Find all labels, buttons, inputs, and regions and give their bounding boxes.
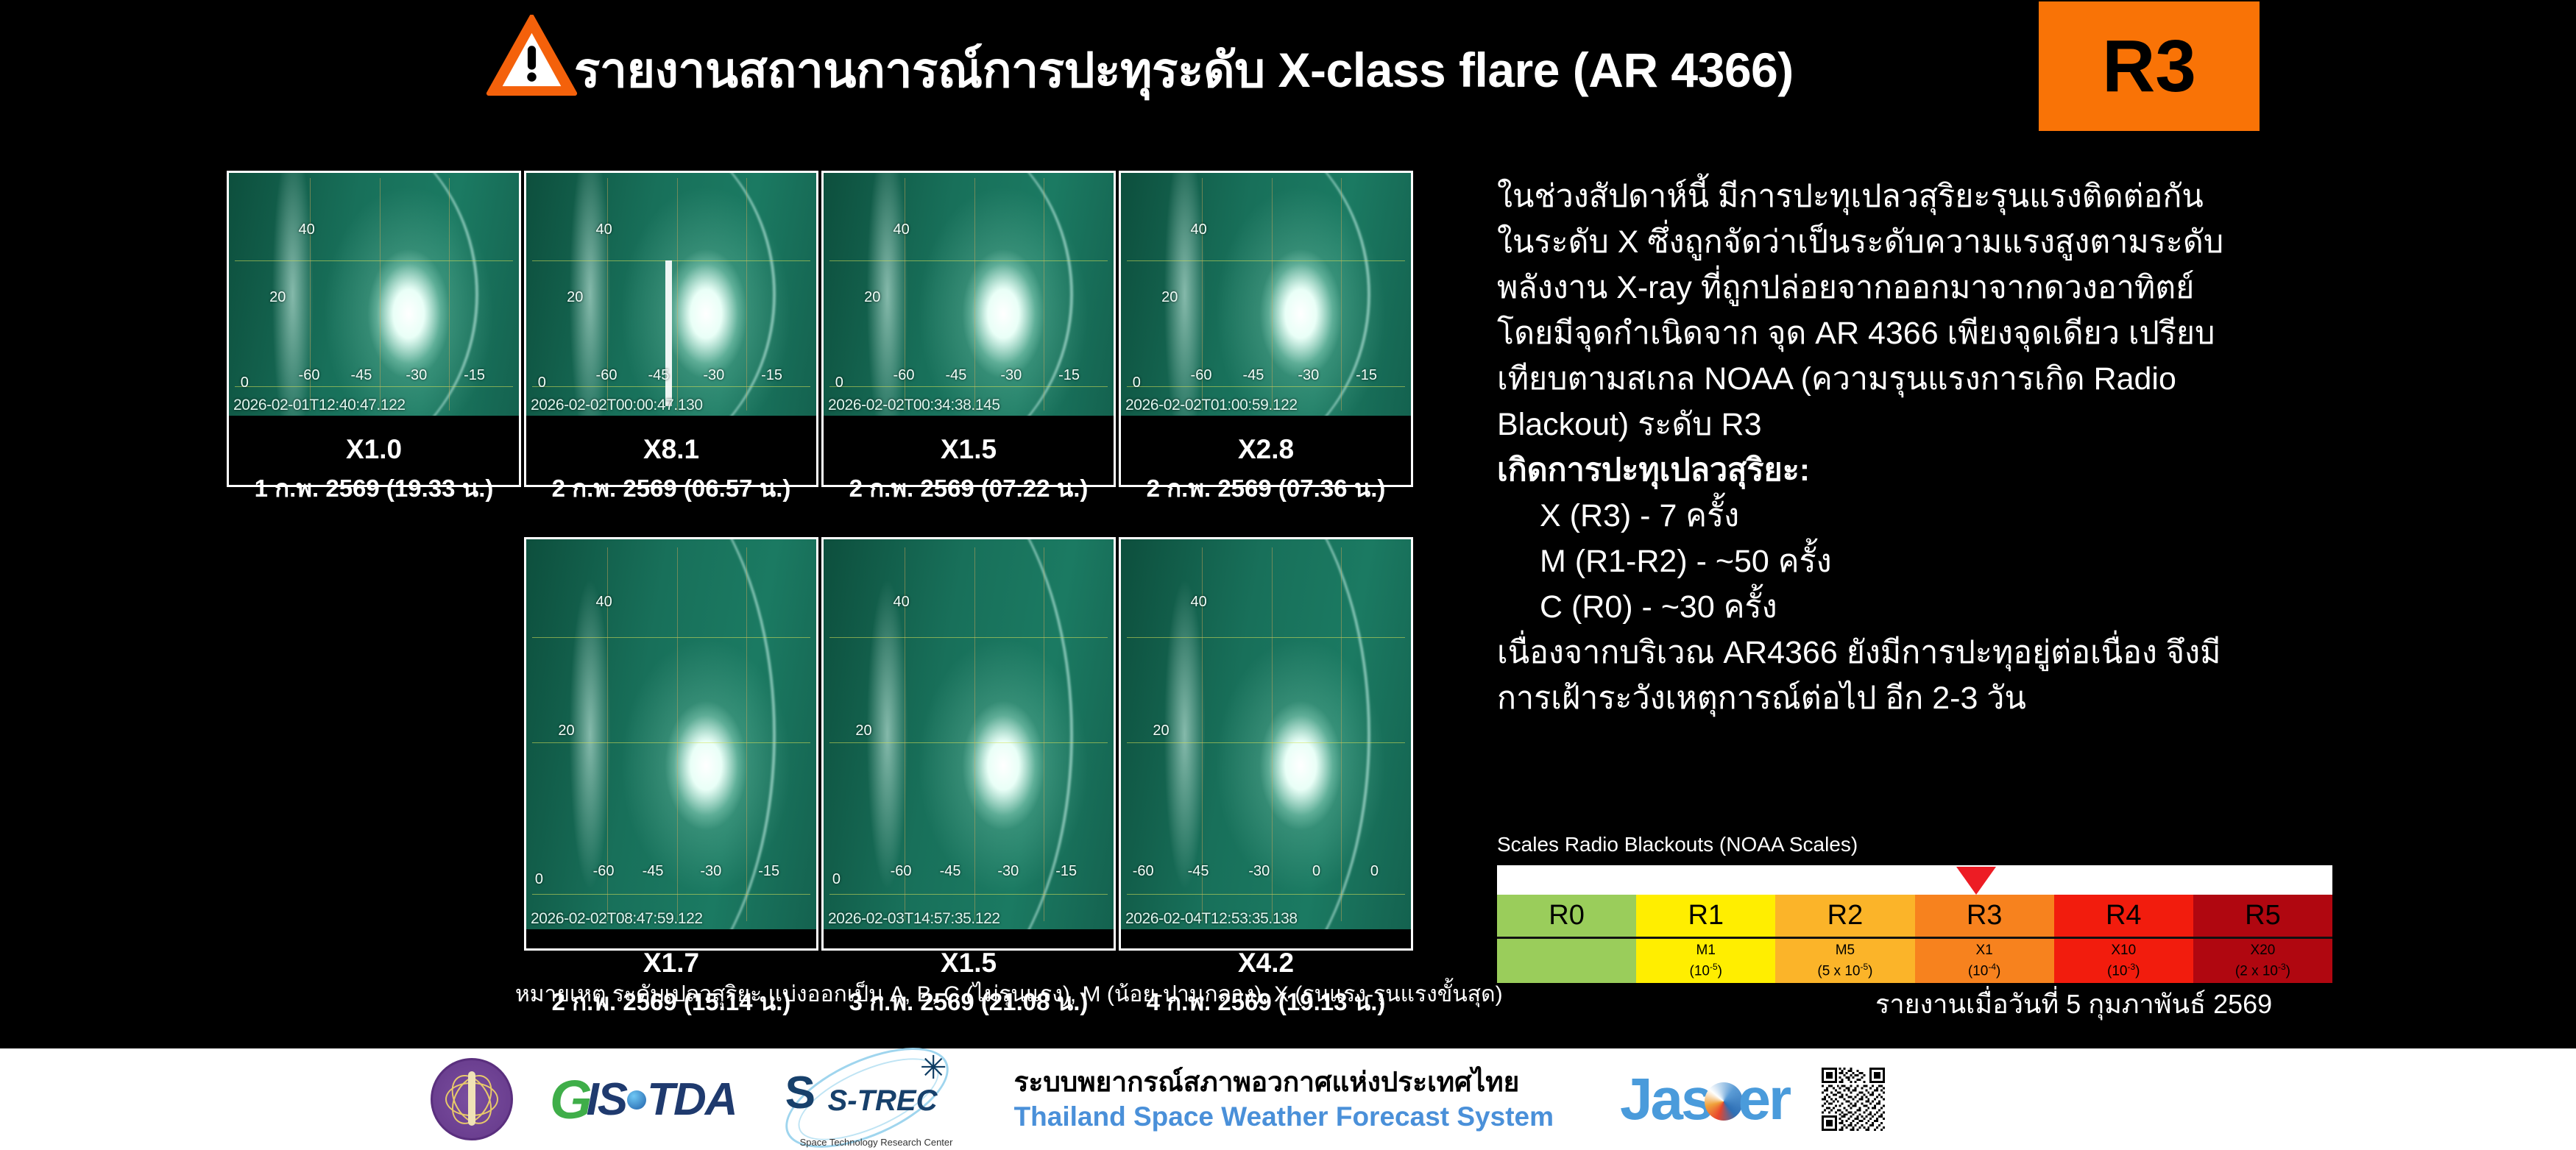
axis-label-y: 0 xyxy=(241,375,249,391)
flare-count-heading: เกิดการปะทุเปลวสุริยะ: xyxy=(1497,447,2366,493)
flare-panel-6[interactable]: 40 20 0 -60 -45 -30 -15 2026-02-03T14:57… xyxy=(821,537,1116,951)
solar-image-2: 40 20 0 -60 -45 -30 -15 2026-02-02T00:00… xyxy=(526,173,816,416)
solar-image-4: 40 20 0 -60 -45 -30 -15 2026-02-02T01:00… xyxy=(1121,173,1411,416)
flare-caption-4: X2.8 2 ก.พ. 2569 (07.36 น.) xyxy=(1121,419,1411,507)
page-title: รายงานสถานการณ์การปะทุระดับ X-class flar… xyxy=(574,29,2009,110)
axis-label-y: 40 xyxy=(1191,221,1207,238)
axis-label-y: 20 xyxy=(855,723,871,739)
axis-label-y: 40 xyxy=(894,221,910,238)
axis-label-x: -45 xyxy=(350,367,372,384)
axis-label-x: -45 xyxy=(945,367,966,384)
globe-icon xyxy=(627,1090,646,1110)
axis-label-x: -60 xyxy=(1133,863,1154,880)
flare-class: X1.5 xyxy=(824,429,1114,470)
scale-segment-r4[interactable]: R4 X10 (10-3) xyxy=(2054,895,2193,983)
poster-root: รายงานสถานการณ์การปะทุระดับ X-class flar… xyxy=(0,0,2576,1150)
qr-code[interactable] xyxy=(1822,1068,1885,1131)
axis-label-x: 0 xyxy=(1370,863,1379,880)
jasper-text-b: er xyxy=(1738,1065,1790,1133)
axis-label-x: -60 xyxy=(891,863,912,880)
image-timestamp: 2026-02-04T12:53:35.138 xyxy=(1125,910,1298,928)
flare-datetime: 2 ก.พ. 2569 (06.57 น.) xyxy=(526,470,816,507)
axis-label-x: -30 xyxy=(406,367,427,384)
axis-label-x: -60 xyxy=(593,863,615,880)
axis-label-y: 20 xyxy=(558,723,574,739)
axis-label-y: 0 xyxy=(835,375,843,391)
mhesi-seal-logo xyxy=(431,1058,513,1140)
axis-label-x: -45 xyxy=(1188,863,1209,880)
axis-label-y: 40 xyxy=(894,594,910,611)
logo-bar: GISTDA S S-TREC ✳ Space Technology Resea… xyxy=(0,1048,2576,1150)
scale-label: R2 xyxy=(1775,895,1914,939)
flare-count-c: C (R0) - ~30 ครั้ง xyxy=(1497,584,2366,630)
image-timestamp: 2026-02-02T08:47:59.122 xyxy=(531,910,703,928)
footnote: หมายเหตุ ระดับเปลวสุริยะ แบ่งออกเป็น A, … xyxy=(515,977,1503,1012)
tswfs-english: Thailand Space Weather Forecast System xyxy=(1014,1100,1554,1134)
scale-label: R1 xyxy=(1636,895,1775,939)
flare-class: X8.1 xyxy=(526,429,816,470)
axis-label-x: -45 xyxy=(643,863,664,880)
scale-flare: X1 xyxy=(1975,943,1992,959)
tswfs-thai: ระบบพยากรณ์สภาพอวกาศแห่งประเทศไทย xyxy=(1014,1065,1554,1100)
solar-image-grid: 40 20 0 -60 -45 -30 -15 2026-02-01T12:40… xyxy=(227,171,1478,951)
scale-flux: (10-5) xyxy=(1690,959,1722,979)
scale-segment-r3[interactable]: R3 X1 (10-4) xyxy=(1915,895,2054,983)
solar-image-1: 40 20 0 -60 -45 -30 -15 2026-02-01T12:40… xyxy=(229,173,519,416)
solar-image-7: 40 20 -60 -45 -30 0 0 2026-02-04T12:53:3… xyxy=(1121,539,1411,929)
flare-class: X1.0 xyxy=(229,429,519,470)
axis-label-y: 20 xyxy=(1153,723,1169,739)
report-date: รายงานเมื่อวันที่ 5 กุมภาพันธ์ 2569 xyxy=(1875,983,2272,1025)
scale-segments-top: R0 R1 M1 (10-5) R2 M5 (5 x 10-5) xyxy=(1497,895,2332,983)
flare-panel-5[interactable]: 40 20 0 -60 -45 -30 -15 2026-02-02T08:47… xyxy=(524,537,818,951)
solar-image-6: 40 20 0 -60 -45 -30 -15 2026-02-03T14:57… xyxy=(824,539,1114,929)
scale-segment-r5[interactable]: R5 X20 (2 x 10-3) xyxy=(2193,895,2332,983)
axis-label-y: 0 xyxy=(1133,375,1141,391)
summary-panel: ในช่วงสัปดาห์นี้ มีการปะทุเปลวสุริยะรุนแ… xyxy=(1497,174,2366,721)
current-level-pointer-icon xyxy=(1956,867,1996,895)
flare-count-x: X (R3) - 7 ครั้ง xyxy=(1497,493,2366,539)
axis-label-x: -30 xyxy=(997,863,1019,880)
flare-class: X2.8 xyxy=(1121,429,1411,470)
scale-pointer-band xyxy=(1497,865,2332,895)
star-icon: ✳ xyxy=(920,1052,947,1085)
image-timestamp: 2026-02-02T01:00:59.122 xyxy=(1125,397,1298,414)
scale-flux: (10-4) xyxy=(1968,959,2000,979)
scale-label: R5 xyxy=(2193,895,2332,939)
summary-line-3: พลังงาน X-ray ที่ถูกปล่อยจากออกมาจากดวงอ… xyxy=(1497,265,2366,310)
scale-value: M1 (10-5) xyxy=(1636,939,1775,983)
scale-flare: X10 xyxy=(2111,943,2136,959)
strec-subtitle: Space Technology Research Center xyxy=(800,1137,953,1148)
axis-label-y: 0 xyxy=(535,871,543,888)
outlook-line-1: เนื่องจากบริเวณ AR4366 ยังมีการปะทุอยู่ต… xyxy=(1497,630,2366,675)
axis-label-x: -30 xyxy=(1298,367,1319,384)
axis-label-y: 0 xyxy=(538,375,546,391)
flare-caption-3: X1.5 2 ก.พ. 2569 (07.22 น.) xyxy=(824,419,1114,507)
axis-label-y: 20 xyxy=(269,289,286,306)
solar-image-3: 40 20 0 -60 -45 -30 -15 2026-02-02T00:34… xyxy=(824,173,1114,416)
scale-bar: R0 R1 M1 (10-5) R2 M5 (5 x 10-5) xyxy=(1497,865,2332,983)
status-badge-r3: R3 xyxy=(2039,1,2260,131)
image-timestamp: 2026-02-01T12:40:47.122 xyxy=(233,397,406,414)
axis-label-x: -15 xyxy=(464,367,485,384)
axis-label-x: -15 xyxy=(758,863,779,880)
page-header: รายงานสถานการณ์การปะทุระดับ X-class flar… xyxy=(0,0,2576,147)
flare-panel-2[interactable]: 40 20 0 -60 -45 -30 -15 2026-02-02T00:00… xyxy=(524,171,818,487)
jasper-globe-icon xyxy=(1705,1082,1743,1121)
axis-label-y: 40 xyxy=(1191,594,1207,611)
image-timestamp: 2026-02-02T00:34:38.145 xyxy=(828,397,1000,414)
axis-label-y: 20 xyxy=(1161,289,1178,306)
flare-caption-1: X1.0 1 ก.พ. 2569 (19.33 น.) xyxy=(229,419,519,507)
scale-flare: M1 xyxy=(1696,943,1716,959)
scale-value: M5 (5 x 10-5) xyxy=(1775,939,1914,983)
axis-label-y: 20 xyxy=(567,289,583,306)
scale-value: X1 (10-4) xyxy=(1915,939,2054,983)
scale-label: R4 xyxy=(2054,895,2193,939)
tswfs-wordmark: ระบบพยากรณ์สภาพอวกาศแห่งประเทศไทย Thaila… xyxy=(1014,1065,1554,1134)
axis-label-x: -45 xyxy=(1242,367,1264,384)
flare-datetime: 2 ก.พ. 2569 (07.22 น.) xyxy=(824,470,1114,507)
strec-wordmark: S-TREC xyxy=(828,1085,938,1118)
noaa-scale-block: Scales Radio Blackouts (NOAA Scales) R0 … xyxy=(1497,830,2332,983)
scale-segment-r0[interactable]: R0 xyxy=(1497,895,1636,983)
flare-caption-2: X8.1 2 ก.พ. 2569 (06.57 น.) xyxy=(526,419,816,507)
scale-flare: M5 xyxy=(1836,943,1855,959)
outlook-line-2: การเฝ้าระวังเหตุการณ์ต่อไป อีก 2-3 วัน xyxy=(1497,675,2366,721)
axis-label-y: 40 xyxy=(596,594,612,611)
axis-label-y: 40 xyxy=(596,221,612,238)
flare-panel-4[interactable]: 40 20 0 -60 -45 -30 -15 2026-02-02T01:00… xyxy=(1119,171,1413,487)
axis-label-x: -30 xyxy=(703,367,724,384)
axis-label-x: -30 xyxy=(700,863,721,880)
axis-label-y: 20 xyxy=(864,289,880,306)
scale-segment-r2[interactable]: R2 M5 (5 x 10-5) xyxy=(1775,895,1914,983)
strec-logo: S S-TREC ✳ Space Technology Research Cen… xyxy=(782,1055,952,1143)
scale-label: R3 xyxy=(1915,895,2054,939)
scale-segment-r1[interactable]: R1 M1 (10-5) xyxy=(1636,895,1775,983)
flare-panel-3[interactable]: 40 20 0 -60 -45 -30 -15 2026-02-02T00:34… xyxy=(821,171,1116,487)
axis-label-y: 0 xyxy=(832,871,841,888)
axis-label-x: -45 xyxy=(648,367,669,384)
axis-label-x: -60 xyxy=(299,367,320,384)
jasper-logo: Jaser xyxy=(1620,1065,1789,1133)
solar-image-5: 40 20 0 -60 -45 -30 -15 2026-02-02T08:47… xyxy=(526,539,816,929)
flare-panel-7[interactable]: 40 20 -60 -45 -30 0 0 2026-02-04T12:53:3… xyxy=(1119,537,1413,951)
image-timestamp: 2026-02-02T00:00:47.130 xyxy=(531,397,703,414)
axis-label-x: -60 xyxy=(596,367,618,384)
gistda-logo: GISTDA xyxy=(550,1068,737,1131)
scale-flux: (5 x 10-5) xyxy=(1817,959,1872,979)
axis-label-x: -15 xyxy=(1356,367,1377,384)
scale-flare: X20 xyxy=(2251,943,2276,959)
summary-line-6: Blackout) ระดับ R3 xyxy=(1497,402,2366,447)
warning-triangle-icon xyxy=(486,15,578,97)
jasper-text-a: Jas xyxy=(1620,1065,1711,1133)
axis-label-x: 0 xyxy=(1312,863,1320,880)
flare-datetime: 2 ก.พ. 2569 (07.36 น.) xyxy=(1121,470,1411,507)
summary-line-1: ในช่วงสัปดาห์นี้ มีการปะทุเปลวสุริยะรุนแ… xyxy=(1497,174,2366,219)
summary-line-2: ในระดับ X ซึ่งถูกจัดว่าเป็นระดับความแรงส… xyxy=(1497,219,2366,265)
flare-datetime: 1 ก.พ. 2569 (19.33 น.) xyxy=(229,470,519,507)
axis-label-x: -15 xyxy=(761,367,782,384)
scale-value xyxy=(1497,939,1636,983)
axis-label-x: -30 xyxy=(1248,863,1270,880)
flare-panel-1[interactable]: 40 20 0 -60 -45 -30 -15 2026-02-01T12:40… xyxy=(227,171,521,487)
scale-label: R0 xyxy=(1497,895,1636,939)
summary-line-5: เทียบตามสเกล NOAA (ความรุนแรงการเกิด Rad… xyxy=(1497,356,2366,402)
flare-count-m: M (R1-R2) - ~50 ครั้ง xyxy=(1497,539,2366,584)
axis-label-x: -45 xyxy=(940,863,961,880)
scale-value: X10 (10-3) xyxy=(2054,939,2193,983)
scale-flux: (10-3) xyxy=(2107,959,2140,979)
scale-value: X20 (2 x 10-3) xyxy=(2193,939,2332,983)
axis-label-x: -30 xyxy=(1000,367,1022,384)
axis-label-x: -15 xyxy=(1055,863,1077,880)
axis-label-x: -60 xyxy=(894,367,915,384)
scale-flux: (2 x 10-3) xyxy=(2235,959,2290,979)
scale-title: Scales Radio Blackouts (NOAA Scales) xyxy=(1497,830,2332,859)
axis-label-x: -60 xyxy=(1191,367,1212,384)
summary-line-4: โดยมีจุดกำเนิดจาก จุด AR 4366 เพียงจุดเด… xyxy=(1497,310,2366,356)
axis-label-x: -15 xyxy=(1058,367,1080,384)
axis-label-y: 40 xyxy=(299,221,315,238)
image-timestamp: 2026-02-03T14:57:35.122 xyxy=(828,910,1000,928)
